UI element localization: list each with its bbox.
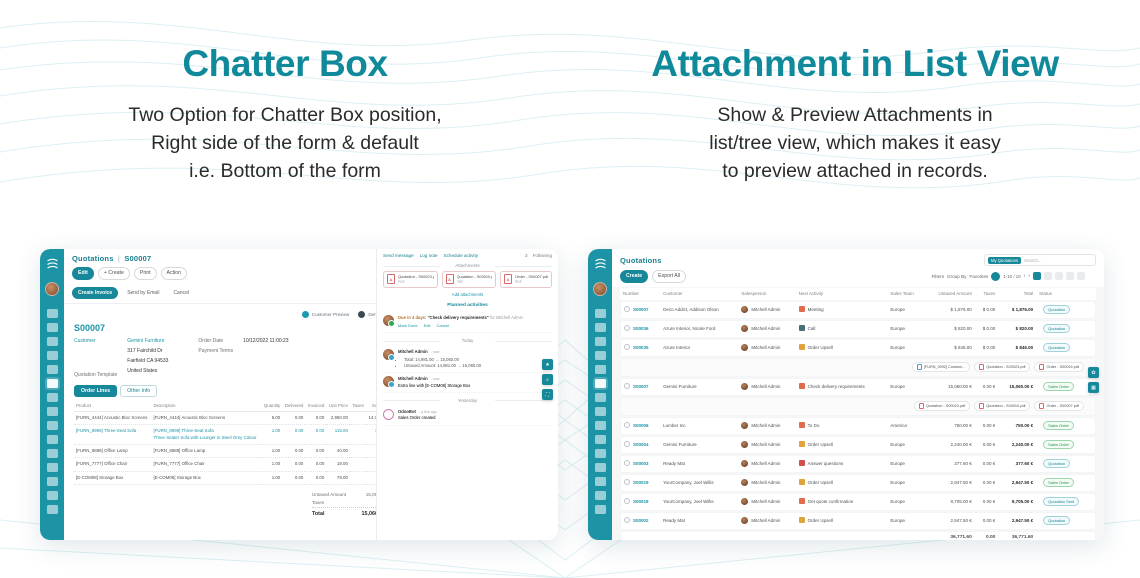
cell-status: Quotation Sent	[1036, 493, 1096, 511]
avatar	[741, 479, 748, 486]
sidebar-icon-website[interactable]	[595, 491, 606, 500]
cell-number: S00003	[620, 455, 660, 473]
col-status[interactable]: Status	[1036, 288, 1096, 300]
avatar	[383, 376, 394, 387]
order-line-delivered: 0.00	[282, 444, 305, 457]
group-by-button[interactable]: Group By	[947, 274, 966, 279]
message-author: Mitchell Admin	[398, 376, 428, 381]
chatter-message: Mitchell Admin- nowTotal: 14,981.00 → 15…	[383, 346, 552, 373]
export-all-button[interactable]: Export All	[652, 270, 686, 283]
order-line-unit-price: 2,950.00	[326, 411, 350, 424]
attachment-list: AQuotation - S00023.pdfPDFAQuotation - S…	[383, 271, 552, 288]
footer-untaxed: 36,771.60	[925, 531, 975, 540]
sidebar-icon-accounting[interactable]	[47, 435, 58, 444]
follower-count[interactable]: 3	[525, 253, 528, 258]
message-author: OdooBot	[398, 409, 416, 414]
message-body: Mitchell Admin- nowTotal: 14,981.00 → 15…	[398, 349, 481, 369]
cell-next-activity: Order Upsell	[796, 512, 888, 530]
sidebar-icon-manufacturing[interactable]	[595, 421, 606, 430]
order-line-row[interactable]: [FURN_4444] Acoustic Bloc Screens[FURN_4…	[74, 411, 390, 424]
chip-label: Order - S00015.pdf	[1046, 365, 1079, 369]
message-text: Extra line with [E-COM08] Storage Box	[398, 383, 470, 389]
sidebar-icon-inventory[interactable]	[47, 407, 58, 416]
value-address-country: United States	[127, 368, 168, 374]
heading-column-right: Attachment in List View Show & Preview A…	[570, 0, 1140, 185]
order-line-unit-price: 79.00	[326, 471, 350, 484]
sidebar-icon-calendar[interactable]	[595, 337, 606, 346]
phone-icon	[799, 325, 805, 331]
cell-number: S00007	[620, 378, 660, 396]
record-toggle-icon[interactable]	[624, 479, 630, 485]
avatar	[741, 306, 748, 313]
table-row[interactable]: S00019YourCompany, Joel WillisMitchell A…	[620, 474, 1096, 492]
col-customer[interactable]: Customer	[660, 288, 738, 300]
pdf-icon: A	[504, 274, 512, 284]
breadcrumb-separator: |	[118, 254, 120, 263]
table-row[interactable]: S00007Deco Addict, Addison OlsonMitchell…	[620, 301, 1096, 319]
order-line-description: [FURN_4444] Acoustic Bloc Screens	[152, 411, 262, 424]
order-line-invoiced: 0.00	[305, 458, 326, 471]
record-number[interactable]: S00007	[633, 384, 649, 389]
order-line-row[interactable]: [FURN_8888] Office Lamp[FURN_8888] Offic…	[74, 444, 390, 457]
col-next-activity[interactable]: Next Activity	[796, 288, 888, 300]
star-icon[interactable]: ★	[542, 359, 553, 370]
avatar	[741, 383, 748, 390]
list-view-window: Quotations My Quotations Search... Creat…	[588, 249, 1104, 540]
col-sales-team[interactable]: Sales Team	[887, 288, 924, 300]
customer-preview-button[interactable]: Customer Preview	[302, 311, 350, 318]
cell-status: Quotation	[1036, 320, 1096, 338]
cell-sales-team: Europe	[887, 339, 924, 357]
col-description[interactable]: Description	[152, 401, 262, 412]
attachment-chip[interactable]: Order - S00015.pdf	[1034, 362, 1084, 372]
record-number[interactable]: S00036	[633, 326, 649, 331]
value-address-street: 317 Fairchild Dr	[127, 348, 168, 354]
gear-icon[interactable]	[991, 272, 1000, 281]
mail-icon	[799, 460, 805, 466]
table-row[interactable]: S00007Gemini FurnitureMitchell AdminChec…	[620, 378, 1096, 396]
cell-salesperson: Mitchell Admin	[738, 339, 795, 357]
sidebar-icon-inbox[interactable]	[47, 309, 58, 318]
edit-activity-button[interactable]: Edit	[424, 323, 431, 329]
create-button[interactable]: + Create	[98, 267, 130, 280]
cell-next-activity: Order Upsell	[796, 436, 888, 454]
sidebar-icon-accounting[interactable]	[595, 435, 606, 444]
settings-icon[interactable]: ✿	[1088, 367, 1099, 378]
activity-label: Order Upsell	[808, 480, 833, 485]
sidebar-icon-recruitment[interactable]	[595, 477, 606, 486]
col-taxes[interactable]: Taxes	[975, 288, 999, 300]
cell-salesperson: Mitchell Admin	[738, 436, 795, 454]
kanban-view-icon[interactable]	[1044, 272, 1052, 280]
activity-assignee: for Mitchell Admin	[490, 315, 523, 320]
attachment-chips-cell: Quotation - S00023.pdfQuotation - S00010…	[620, 397, 1096, 416]
order-line-row[interactable]: [FURN_8999] Three-Seat Sofa[FURN_8999] T…	[74, 425, 390, 445]
status-badge: Sales Order	[1043, 421, 1074, 430]
cell-customer: Gemini Furniture	[660, 378, 738, 396]
avatar	[741, 441, 748, 448]
search-input[interactable]: My Quotations Search...	[984, 254, 1096, 266]
breadcrumb-root[interactable]: Quotations	[72, 254, 114, 263]
table-row[interactable]: S00004Gemini FurnitureMitchell AdminOrde…	[620, 436, 1096, 454]
cell-untaxed: 750.00 €	[925, 417, 975, 435]
record-number[interactable]: S00007	[633, 307, 649, 312]
cell-salesperson: Mitchell Admin	[738, 417, 795, 435]
status-badge: Sales Order	[1043, 382, 1074, 391]
list-pane: Quotations My Quotations Search... Creat…	[612, 249, 1104, 540]
planned-activities-label: Planned activities	[383, 303, 552, 308]
preview-icon	[302, 311, 309, 318]
sidebar-icon-employees[interactable]	[47, 463, 58, 472]
record-number[interactable]: S00019	[633, 480, 649, 485]
sidebar-icon-calendar[interactable]	[47, 337, 58, 346]
cell-status: Sales Order	[1036, 474, 1096, 492]
action-button[interactable]: Action	[161, 267, 187, 280]
order-line-quantity: 1.00	[261, 425, 282, 445]
attachment-card[interactable]: AQuotation - S00023.pdfPDF	[383, 271, 438, 288]
cell-untaxed: 15,060.00 €	[925, 378, 975, 396]
status-badge: Quotation	[1043, 343, 1070, 352]
attachment-row: [FURN_0092] Customi...Quotation - S00023…	[620, 358, 1096, 377]
col-unit-price[interactable]: Unit Price	[326, 401, 350, 412]
cell-total: 2,947.50 €	[998, 474, 1036, 492]
cell-customer: Ready Mat	[660, 512, 738, 530]
order-totals: Untaxed Amount15,060.00 €Taxes0.00Total1…	[74, 490, 390, 518]
create-invoice-button[interactable]: Create Invoice	[72, 287, 118, 299]
avatar	[741, 498, 748, 505]
cell-taxes: 0.00 €	[975, 493, 999, 511]
record-toggle-icon[interactable]	[624, 306, 630, 312]
cell-total: 15,060.00 €	[998, 378, 1036, 396]
pager-next-button[interactable]: ›	[1028, 273, 1030, 279]
sidebar-icon-megaphone[interactable]	[47, 323, 58, 332]
create-button[interactable]: Create	[620, 270, 648, 283]
attachment-meta: Quotation - S00023.pdfPDF	[398, 274, 434, 285]
total-label: Taxes	[312, 500, 324, 505]
pdf-icon: A	[387, 274, 395, 284]
cell-next-activity: Answer questions	[796, 455, 888, 473]
record-number[interactable]: S00004	[633, 442, 649, 447]
sidebar-icon-invoicing[interactable]	[595, 449, 606, 458]
attachment-card[interactable]: AQuotation - S00010.pdfPDF	[442, 271, 497, 288]
sidebar-icon-employees[interactable]	[595, 463, 606, 472]
avatar	[741, 460, 748, 467]
attachment-chip-list: Quotation - S00023.pdfQuotation - S00010…	[624, 401, 1092, 411]
edit-button[interactable]: Edit	[72, 267, 94, 280]
activity-subject: "Check delivery requirements"	[428, 315, 489, 320]
order-line-taxes	[350, 471, 366, 484]
attachment-chip[interactable]: Order - S00007.pdf	[1034, 401, 1084, 411]
attachment-chip[interactable]: Quotation - S00023.pdf	[914, 401, 970, 411]
total-label: Total	[312, 511, 324, 517]
message-bullets: Total: 14,981.00 → 15,060.00Untaxed Amou…	[404, 357, 481, 370]
filters-button[interactable]: Filters	[931, 274, 944, 279]
form-fields-left: Customer Quotation Template Gemini Furni…	[74, 338, 168, 378]
col-number[interactable]: Number	[620, 288, 660, 300]
activity-label: Check delivery requirements	[808, 384, 865, 389]
user-avatar[interactable]	[593, 282, 607, 296]
following-button[interactable]: Following	[533, 253, 552, 258]
table-row[interactable]: S00035Azure InteriorMitchell AdminOrder …	[620, 339, 1096, 357]
favorites-button[interactable]: Favorites	[969, 274, 988, 279]
log-note-button[interactable]: Log note	[420, 253, 438, 258]
cell-total: $ 846.00	[998, 339, 1036, 357]
record-toggle-icon[interactable]	[624, 344, 630, 350]
chip-label: Quotation - S00010.pdf	[986, 404, 1025, 408]
attachment-chip-list: [FURN_0092] Customi...Quotation - S00023…	[624, 362, 1092, 372]
grid-icon[interactable]: ▦	[1088, 382, 1099, 393]
day-separator-today: Today	[383, 338, 552, 343]
cancel-activity-button[interactable]: Cancel	[436, 323, 448, 329]
cell-next-activity: Order Upsell	[796, 339, 888, 357]
col-salesperson[interactable]: Salesperson	[738, 288, 795, 300]
salesperson-name: Mitchell Admin	[751, 384, 780, 389]
table-row[interactable]: S00002Ready MatMitchell AdminOrder Upsel…	[620, 512, 1096, 530]
cell-untaxed: $ 1,876.00	[925, 301, 975, 319]
cell-salesperson: Mitchell Admin	[738, 320, 795, 338]
order-line-quantity: 1.00	[261, 444, 282, 457]
send-by-email-button[interactable]: Send by Email	[122, 288, 164, 298]
cell-status: Sales Order	[1036, 436, 1096, 454]
attachments-section-label: Attachments	[383, 263, 552, 268]
cell-customer: Gemini Furniture	[660, 436, 738, 454]
list-header-row: Quotations My Quotations Search...	[620, 254, 1096, 266]
form-pane: Quotations | S00007 Edit + Create Print …	[64, 249, 558, 540]
pivot-view-icon[interactable]	[1066, 272, 1074, 280]
cell-untaxed: 2,947.50 €	[925, 474, 975, 492]
attachment-chip[interactable]: [FURN_0092] Customi...	[912, 362, 970, 372]
avatar	[383, 349, 394, 360]
chatter-message: OdooBot- a few agoSales Order created	[383, 406, 552, 426]
record-number[interactable]: S00006	[633, 423, 649, 428]
total-label: Untaxed Amount	[312, 492, 346, 497]
message-author: Mitchell Admin	[398, 349, 428, 354]
tab-other-info[interactable]: Other Info	[120, 385, 157, 397]
cell-status: Quotation	[1036, 301, 1096, 319]
table-row[interactable]: S00036Azure Interior, Nicole FordMitchel…	[620, 320, 1096, 338]
cell-number: S00036	[620, 320, 660, 338]
message-text: Sales Order created	[398, 415, 437, 421]
search-icon[interactable]: ⌕	[542, 374, 553, 385]
cell-sales-team: Europe	[887, 301, 924, 319]
cell-status: Quotation	[1036, 455, 1096, 473]
cell-total: 750.00 €	[998, 417, 1036, 435]
form-values-left: Gemini Furniture 317 Fairchild Dr Fairfi…	[127, 338, 168, 378]
graph-view-icon[interactable]	[1077, 272, 1085, 280]
chip-label: [FURN_0092] Customi...	[924, 365, 965, 369]
value-customer[interactable]: Gemini Furniture	[127, 338, 168, 344]
cell-number: S00007	[620, 301, 660, 319]
order-line-invoiced: 0.00	[305, 425, 326, 445]
cell-status: Quotation	[1036, 339, 1096, 357]
sidebar-icon-contacts[interactable]	[595, 351, 606, 360]
calendar-icon	[799, 306, 805, 312]
sidebar-icon-manufacturing[interactable]	[47, 421, 58, 430]
order-line-row[interactable]: [E-COM08] Storage Box[E-COM08] Storage B…	[74, 471, 390, 484]
col-delivered[interactable]: Delivered	[282, 401, 305, 412]
col-total[interactable]: Total	[998, 288, 1036, 300]
cell-total: 2,947.50 €	[998, 512, 1036, 530]
page-title-chatter-box: Chatter Box	[0, 44, 570, 85]
chart-icon	[799, 517, 805, 523]
attachment-row: Quotation - S00023.pdfQuotation - S00010…	[620, 397, 1096, 416]
list-view-icon[interactable]	[1033, 272, 1041, 280]
chart-icon	[799, 479, 805, 485]
app-sidebar-left	[40, 249, 64, 540]
cell-next-activity: Check delivery requirements	[796, 378, 888, 396]
mark-done-button[interactable]: Mark Done	[398, 323, 418, 329]
order-line-taxes	[350, 411, 366, 424]
form-float-tools: ★ ⌕ ⛶	[542, 359, 553, 400]
order-lines-body: [FURN_4444] Acoustic Bloc Screens[FURN_4…	[74, 411, 390, 484]
value-order-date[interactable]: 10/12/2022 11:00:23	[243, 338, 289, 344]
cell-number: S00035	[620, 339, 660, 357]
tab-order-lines[interactable]: Order Lines	[74, 385, 117, 397]
pager-prev-button[interactable]: ‹	[1024, 273, 1026, 279]
cell-taxes: $ 0.00	[975, 301, 999, 319]
attachment-name: Quotation - S00010.pdf	[457, 274, 493, 279]
cell-untaxed: 9,705.00 €	[925, 493, 975, 511]
record-toggle-icon[interactable]	[624, 460, 630, 466]
table-row[interactable]: S00003Ready MatMitchell AdminAnswer ques…	[620, 455, 1096, 473]
cell-untaxed: $ 846.00	[925, 339, 975, 357]
cell-next-activity: Call	[796, 320, 888, 338]
sidebar-icon-sales[interactable]	[47, 379, 58, 388]
search-facet[interactable]: My Quotations	[988, 257, 1021, 264]
chatter-panel: Send message Log note Schedule activity …	[376, 249, 558, 540]
cell-next-activity: Meeting	[796, 301, 888, 319]
form-view-window: Quotations | S00007 Edit + Create Print …	[40, 249, 558, 540]
salesperson-name: Mitchell Admin	[751, 480, 780, 485]
sidebar-icon-contacts[interactable]	[47, 351, 58, 360]
record-toggle-icon[interactable]	[624, 517, 630, 523]
order-line-row[interactable]: [FURN_7777] Office Chair[FURN_7777] Offi…	[74, 458, 390, 471]
schedule-activity-button[interactable]: Schedule activity	[444, 253, 478, 258]
record-number[interactable]: S00018	[633, 499, 649, 504]
order-line-quantity: 1.00	[261, 471, 282, 484]
calendar-icon	[799, 498, 805, 504]
order-line-product: [FURN_8888] Office Lamp	[74, 444, 152, 457]
record-toggle-icon[interactable]	[624, 441, 630, 447]
cell-taxes: 0.00 €	[975, 436, 999, 454]
sidebar-icon-inbox[interactable]	[595, 309, 606, 318]
form-fields-right: Order Date Payment Terms 10/12/2022 11:0…	[198, 338, 288, 378]
col-product[interactable]: Product	[74, 401, 152, 412]
message-body: OdooBot- a few agoSales Order created	[398, 409, 437, 422]
col-untaxed-amount[interactable]: Untaxed Amount	[925, 288, 975, 300]
odoo-logo-icon[interactable]	[44, 256, 61, 273]
expand-icon[interactable]: ⛶	[542, 389, 553, 400]
activity-label: Order Upsell	[808, 442, 833, 447]
order-line-description: [E-COM08] Storage Box	[152, 471, 262, 484]
order-line-description: [FURN_8888] Office Lamp	[152, 444, 262, 457]
cell-taxes: 0.00 €	[975, 455, 999, 473]
cell-taxes: $ 0.00	[975, 320, 999, 338]
cell-taxes: 0.00 €	[975, 474, 999, 492]
order-line-delivered: 0.00	[282, 471, 305, 484]
order-line-product: [E-COM08] Storage Box	[74, 471, 152, 484]
calendar-icon	[799, 383, 805, 389]
cell-number: S00018	[620, 493, 660, 511]
headings-section: Chatter Box Two Option for Chatter Box p…	[0, 0, 1140, 185]
record-toggle-icon[interactable]	[624, 498, 630, 504]
cell-next-activity: To Do	[796, 417, 888, 435]
record-toggle-icon[interactable]	[624, 422, 630, 428]
order-line-delivered: 0.00	[282, 411, 305, 424]
calendar-view-icon[interactable]	[1055, 272, 1063, 280]
sidebar-icon-purchase[interactable]	[47, 393, 58, 402]
quotations-table: Number Customer Salesperson Next Activit…	[620, 287, 1096, 540]
attachment-chips-cell: [FURN_0092] Customi...Quotation - S00023…	[620, 358, 1096, 377]
col-taxes[interactable]: Taxes	[350, 401, 366, 412]
sidebar-icon-recruitment[interactable]	[47, 477, 58, 486]
attachment-card[interactable]: AOrder - S00007.pdfPDF	[500, 271, 552, 288]
user-avatar[interactable]	[45, 282, 59, 296]
cell-number: S00019	[620, 474, 660, 492]
sidebar-icon-megaphone[interactable]	[595, 323, 606, 332]
cancel-button[interactable]: Cancel	[168, 288, 194, 298]
odoo-logo-icon[interactable]	[592, 256, 609, 273]
cell-customer: Azure Interior, Nicole Ford	[660, 320, 738, 338]
print-button[interactable]: Print	[134, 267, 157, 280]
chart-icon	[799, 344, 805, 350]
order-line-product: [FURN_8999] Three-Seat Sofa	[74, 425, 152, 445]
heading-column-left: Chatter Box Two Option for Chatter Box p…	[0, 0, 570, 185]
cell-salesperson: Mitchell Admin	[738, 301, 795, 319]
sidebar-icon-inventory[interactable]	[595, 407, 606, 416]
add-attachments-button[interactable]: Add attachments	[383, 292, 552, 297]
sidebar-icon-crm[interactable]	[595, 365, 606, 374]
col-invoiced[interactable]: Invoiced	[305, 401, 326, 412]
list-view-controls: Filters Group By Favorites 1-10 / 10 ‹ ›	[931, 272, 1096, 281]
cell-customer: YourCompany, Joel Willis	[660, 474, 738, 492]
table-row[interactable]: S00018YourCompany, Joel WillisMitchell A…	[620, 493, 1096, 511]
label-order-date: Order Date	[198, 338, 233, 344]
status-actions: Create Invoice Send by Email Cancel	[72, 287, 194, 299]
record-number[interactable]: S00035	[633, 345, 649, 350]
attachment-name: Quotation - S00023.pdf	[398, 274, 434, 279]
cell-salesperson: Mitchell Admin	[738, 474, 795, 492]
record-toggle-icon[interactable]	[624, 383, 630, 389]
message-time: - a few ago	[419, 410, 437, 414]
message-time: - now	[431, 377, 440, 381]
activity-view-icon[interactable]	[1088, 272, 1096, 280]
sidebar-icon-website[interactable]	[47, 491, 58, 500]
send-message-button[interactable]: Send message	[383, 253, 414, 258]
sidebar-icon-sales[interactable]	[595, 379, 606, 388]
table-row[interactable]: S00006Lumber IncMitchell AdminTo DoAmeri…	[620, 417, 1096, 435]
sidebar-icon-crm[interactable]	[47, 365, 58, 374]
form-labels-right: Order Date Payment Terms	[198, 338, 233, 378]
order-lines-header-row: Product Description Quantity Delivered I…	[74, 401, 390, 412]
attachment-chip[interactable]: Quotation - S00023.pdf	[974, 362, 1030, 372]
chip-label: Order - S00007.pdf	[1046, 404, 1079, 408]
record-toggle-icon[interactable]	[624, 325, 630, 331]
cell-total: 2,240.00 €	[998, 436, 1036, 454]
order-line-product: [FURN_4444] Acoustic Bloc Screens	[74, 411, 152, 424]
attachment-chip[interactable]: Quotation - S00010.pdf	[974, 401, 1030, 411]
cell-salesperson: Mitchell Admin	[738, 378, 795, 396]
record-number[interactable]: S00002	[633, 518, 649, 523]
sidebar-icon-settings[interactable]	[47, 505, 58, 514]
record-number[interactable]: S00003	[633, 461, 649, 466]
col-quantity[interactable]: Quantity	[261, 401, 282, 412]
sidebar-icon-purchase[interactable]	[595, 393, 606, 402]
sidebar-icon-settings[interactable]	[595, 505, 606, 514]
sidebar-icon-invoicing[interactable]	[47, 449, 58, 458]
cell-customer: Lumber Inc	[660, 417, 738, 435]
order-line-delivered: 0.00	[282, 425, 305, 445]
